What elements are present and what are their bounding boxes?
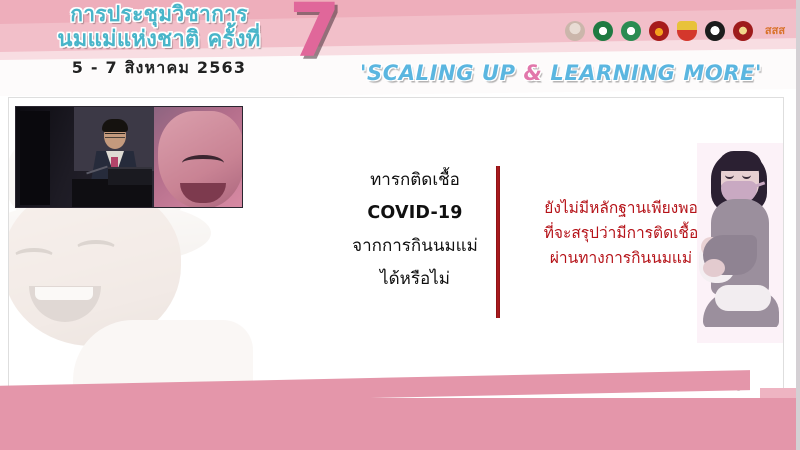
speaker-hair (102, 119, 128, 132)
thai-emblem-logo (647, 19, 671, 43)
sponsor-logo-row: สสส (563, 19, 791, 43)
conference-title-line-1: การประชุมวิชาการ (24, 2, 294, 27)
podium-laptop (108, 167, 152, 185)
conference-date-range: 5 - 7 สิงหาคม 2563 (24, 56, 294, 81)
ministry-public-health-logo (591, 19, 615, 43)
slogan-suffix-text: LEARNING MORE' (542, 61, 762, 85)
illustration-floor (697, 327, 784, 343)
answer-line-1: ยังไม่มีหลักฐานเพียงพอ (509, 196, 733, 221)
royal-seal-logo (563, 19, 587, 43)
thaihealth-sss-logo: สสส (759, 19, 791, 43)
slogan-ampersand: & (524, 61, 543, 85)
speaker-presentation-video-thumbnail[interactable] (15, 106, 243, 208)
video-stage-curtain (20, 111, 50, 205)
conference-edition-number: 7 (289, 0, 341, 68)
question-line-1: ทารกติดเชื้อ (327, 164, 503, 197)
footer-band (0, 398, 800, 450)
question-line-3: จากการกินนมแม่ (327, 230, 503, 263)
conference-title-line-2: นมแม่แห่งชาติ ครั้งที่ (24, 27, 294, 52)
mother-hair-front (718, 151, 762, 171)
red-crest-logo (731, 19, 755, 43)
university-seal-logo (703, 19, 727, 43)
speaker-glasses (105, 133, 125, 138)
answer-line-3: ผ่านทางการกินนมแม่ (509, 246, 733, 271)
question-line-2: COVID-19 (327, 197, 503, 230)
mother-lap-cloth (715, 285, 771, 311)
question-line-4: ได้หรือไม่ (327, 263, 503, 296)
slide-right-edge (796, 0, 800, 450)
baby-closeup-overlay (154, 107, 243, 208)
conference-slogan: 'SCALING UP & LEARNING MORE' (360, 61, 762, 85)
slogan-prefix-text: 'SCALING UP (360, 61, 524, 85)
conference-title-block: การประชุมวิชาการ นมแม่แห่งชาติ ครั้งที่ … (24, 2, 294, 81)
conference-header-banner: การประชุมวิชาการ นมแม่แห่งชาติ ครั้งที่ … (0, 0, 800, 96)
health-department-logo (619, 19, 643, 43)
presentation-slide: การประชุมวิชาการ นมแม่แห่งชาติ ครั้งที่ … (0, 0, 800, 450)
question-text-block: ทารกติดเชื้อ COVID-19 จากการกินนมแม่ ได้… (327, 164, 503, 296)
answer-text-block: ยังไม่มีหลักฐานเพียงพอ ที่จะสรุปว่ามีการ… (509, 196, 733, 271)
answer-line-2: ที่จะสรุปว่ามีการติดเชื้อ (509, 221, 733, 246)
red-vertical-divider (496, 166, 500, 318)
royal-crest-logo (675, 19, 699, 43)
